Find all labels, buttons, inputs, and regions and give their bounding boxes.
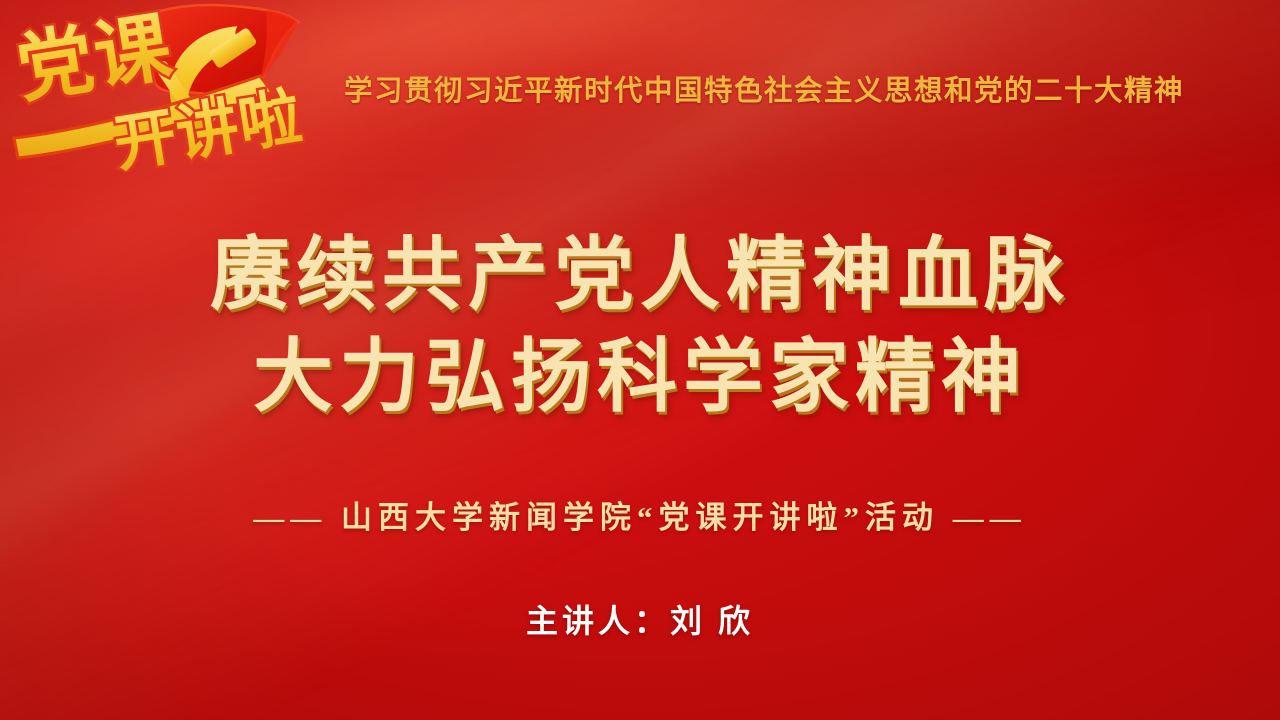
title-line-2: 大力弘扬科学家精神 <box>0 328 1280 426</box>
main-title: 赓续共产党人精神血脉 大力弘扬科学家精神 <box>0 226 1280 425</box>
dangke-kaijiangla-logo: 党课 开讲啦 <box>8 0 330 172</box>
logo-line2-text: 开讲啦 <box>109 82 306 172</box>
speaker-line: 主讲人：刘 欣 <box>0 596 1280 642</box>
event-subtitle: —— 山西大学新闻学院“党课开讲啦”活动 —— <box>0 492 1280 537</box>
presentation-slide: 党课 开讲啦 学习贯彻习近平新时代中国特色社会主义思想和党的二十大精神 赓续共产… <box>0 0 1280 720</box>
title-line-1: 赓续共产党人精神血脉 <box>0 226 1280 324</box>
logo-line1-text: 党课 <box>11 4 178 112</box>
header-slogan: 学习贯彻习近平新时代中国特色社会主义思想和党的二十大精神 <box>336 68 1192 109</box>
